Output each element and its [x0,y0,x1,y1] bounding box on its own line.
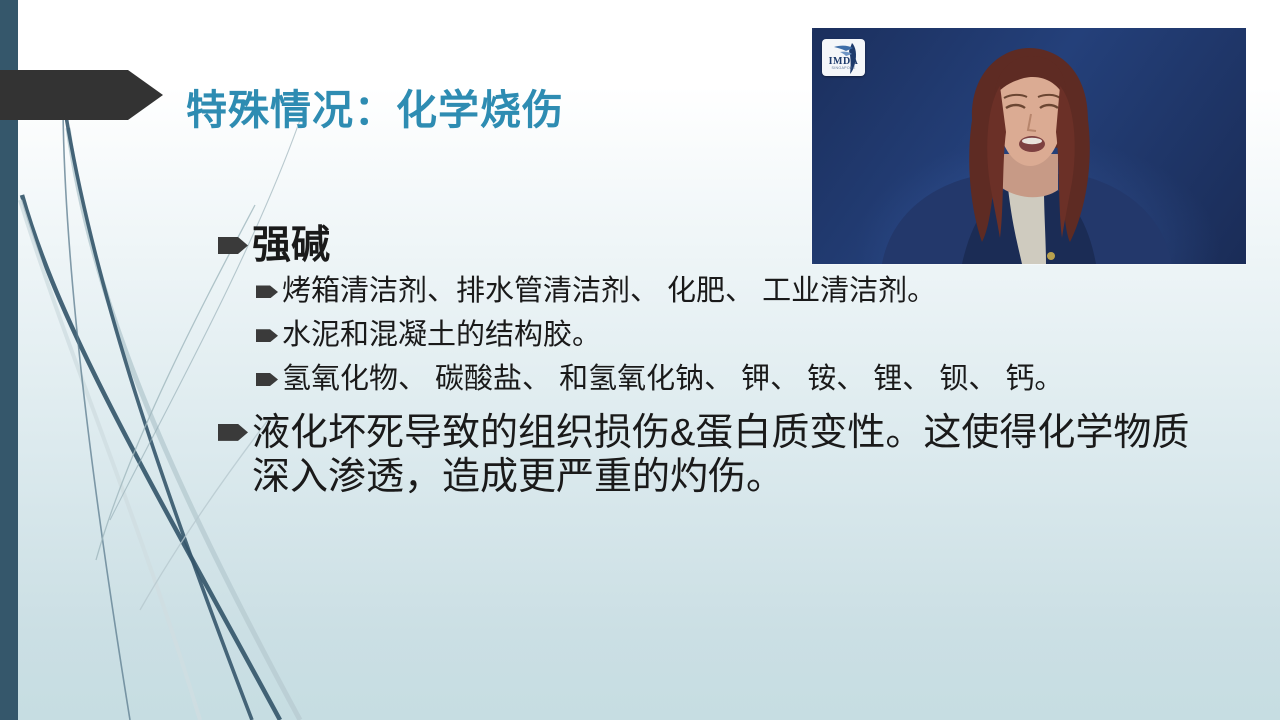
title-banner-arrow [0,70,163,120]
bullet-item-level2: 氢氧化物、 碳酸盐、 和氢氧化钠、 钾、 铵、 锂、 钡、 钙。 [256,362,1218,397]
arrow-bullet-icon [256,285,278,298]
bullet-item-level2: 烤箱清洁剂、排水管清洁剂、 化肥、 工业清洁剂。 [256,274,1218,309]
arrow-bullet-icon [218,237,248,254]
bullet-text: 强碱 [252,224,330,268]
video-speaker-figure [812,28,1246,264]
presentation-slide: 特殊情况：化学烧伤 强碱 烤箱清洁剂、排水管清洁剂、 化肥、 工业清洁剂。 水泥… [0,0,1280,720]
page-title: 特殊情况：化学烧伤 [186,76,564,136]
bullet-item-level2: 水泥和混凝土的结构胶。 [256,318,1218,353]
slide-body: 强碱 烤箱清洁剂、排水管清洁剂、 化肥、 工业清洁剂。 水泥和混凝土的结构胶。 … [218,224,1218,505]
arrow-bullet-icon [218,424,248,441]
bullet-text: 烤箱清洁剂、排水管清洁剂、 化肥、 工业清洁剂。 [282,274,936,309]
video-overlay-panel[interactable]: IMDA SINGAPORE [812,28,1246,264]
bullet-item-level1: 液化坏死导致的组织损伤&蛋白质变性。这使得化学物质深入渗透，造成更严重的灼伤。 [218,411,1218,499]
bullet-text: 氢氧化物、 碳酸盐、 和氢氧化钠、 钾、 铵、 锂、 钡、 钙。 [282,362,1063,397]
bullet-text: 水泥和混凝土的结构胶。 [282,318,601,353]
imda-logo-subtext: SINGAPORE [822,66,865,70]
arrow-bullet-icon [256,373,278,386]
sub-bullet-list: 烤箱清洁剂、排水管清洁剂、 化肥、 工业清洁剂。 水泥和混凝土的结构胶。 氢氧化… [256,274,1218,396]
arrow-bullet-icon [256,329,278,342]
imda-logo: IMDA SINGAPORE [822,39,865,76]
bullet-text: 液化坏死导致的组织损伤&蛋白质变性。这使得化学物质深入渗透，造成更严重的灼伤。 [252,411,1212,499]
